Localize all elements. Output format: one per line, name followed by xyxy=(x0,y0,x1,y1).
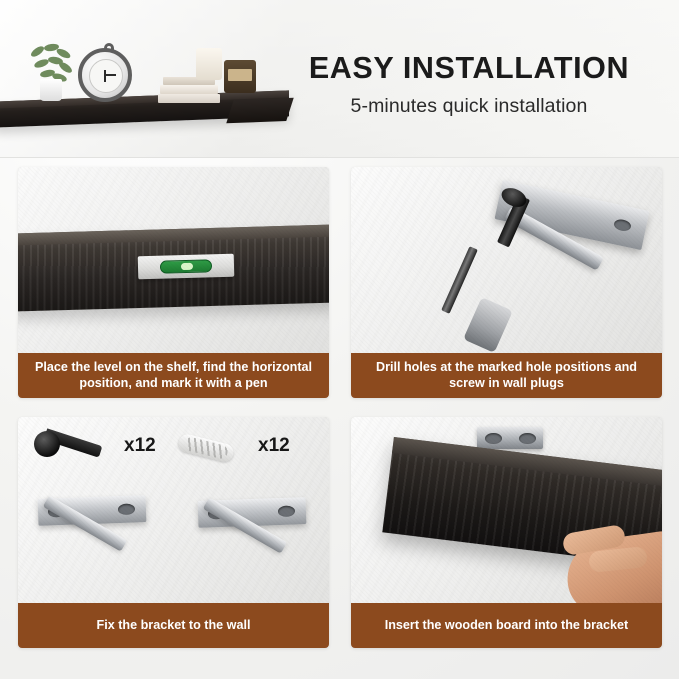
level-bubble xyxy=(181,263,193,270)
screw-quantity-label: x12 xyxy=(124,435,156,457)
header-banner: EASY INSTALLATION 5-minutes quick instal… xyxy=(0,0,679,158)
step-3-photo: x12 x12 xyxy=(18,417,329,603)
step-4-photo xyxy=(351,417,662,603)
step-2-caption: Drill holes at the marked hole positions… xyxy=(351,353,662,398)
candle-jar-icon xyxy=(224,60,256,93)
bracket-hole-right xyxy=(613,218,632,232)
plug-quantity-label: x12 xyxy=(258,435,290,457)
header-text-block: EASY INSTALLATION 5-minutes quick instal… xyxy=(269,52,669,118)
screw-head-icon xyxy=(34,431,60,457)
clock-hour-hand xyxy=(104,74,116,76)
bracket-hole-left xyxy=(485,433,502,444)
step-3-caption: Fix the bracket to the wall xyxy=(18,603,329,648)
clock-minute-hand xyxy=(104,70,106,82)
header-divider xyxy=(0,157,679,158)
step-2-card: Drill holes at the marked hole positions… xyxy=(351,167,662,398)
book-middle xyxy=(160,85,218,94)
spirit-level-icon xyxy=(138,254,235,280)
plant-pot-icon xyxy=(40,79,62,101)
level-vial xyxy=(160,259,212,273)
book-bottom xyxy=(158,94,220,103)
wall-mounted-bracket-icon xyxy=(477,427,543,449)
pillar-candle-icon xyxy=(196,48,222,80)
step-2-photo xyxy=(351,167,662,353)
page-title: EASY INSTALLATION xyxy=(269,52,669,84)
product-infographic: EASY INSTALLATION 5-minutes quick instal… xyxy=(0,0,679,679)
step-3-card: x12 x12 Fix the bracket to the wall xyxy=(18,417,329,648)
hero-shelf-scene xyxy=(0,0,300,158)
bracket-hole-right xyxy=(118,504,135,516)
step-1-photo xyxy=(18,167,329,353)
bracket-hole-right xyxy=(519,433,536,444)
clock-handle xyxy=(104,43,114,51)
potted-plant-leaves-icon xyxy=(28,44,76,84)
step-1-card: Place the level on the shelf, find the h… xyxy=(18,167,329,398)
table-clock-icon xyxy=(78,48,132,102)
clock-face xyxy=(89,59,123,93)
candle-jar-label xyxy=(228,69,252,81)
steps-grid: Place the level on the shelf, find the h… xyxy=(18,167,662,663)
page-subtitle: 5-minutes quick installation xyxy=(269,95,669,118)
bracket-hole-right xyxy=(278,506,295,518)
step-4-caption: Insert the wooden board into the bracket xyxy=(351,603,662,648)
step-4-card: Insert the wooden board into the bracket xyxy=(351,417,662,648)
step-1-caption: Place the level on the shelf, find the h… xyxy=(18,353,329,398)
